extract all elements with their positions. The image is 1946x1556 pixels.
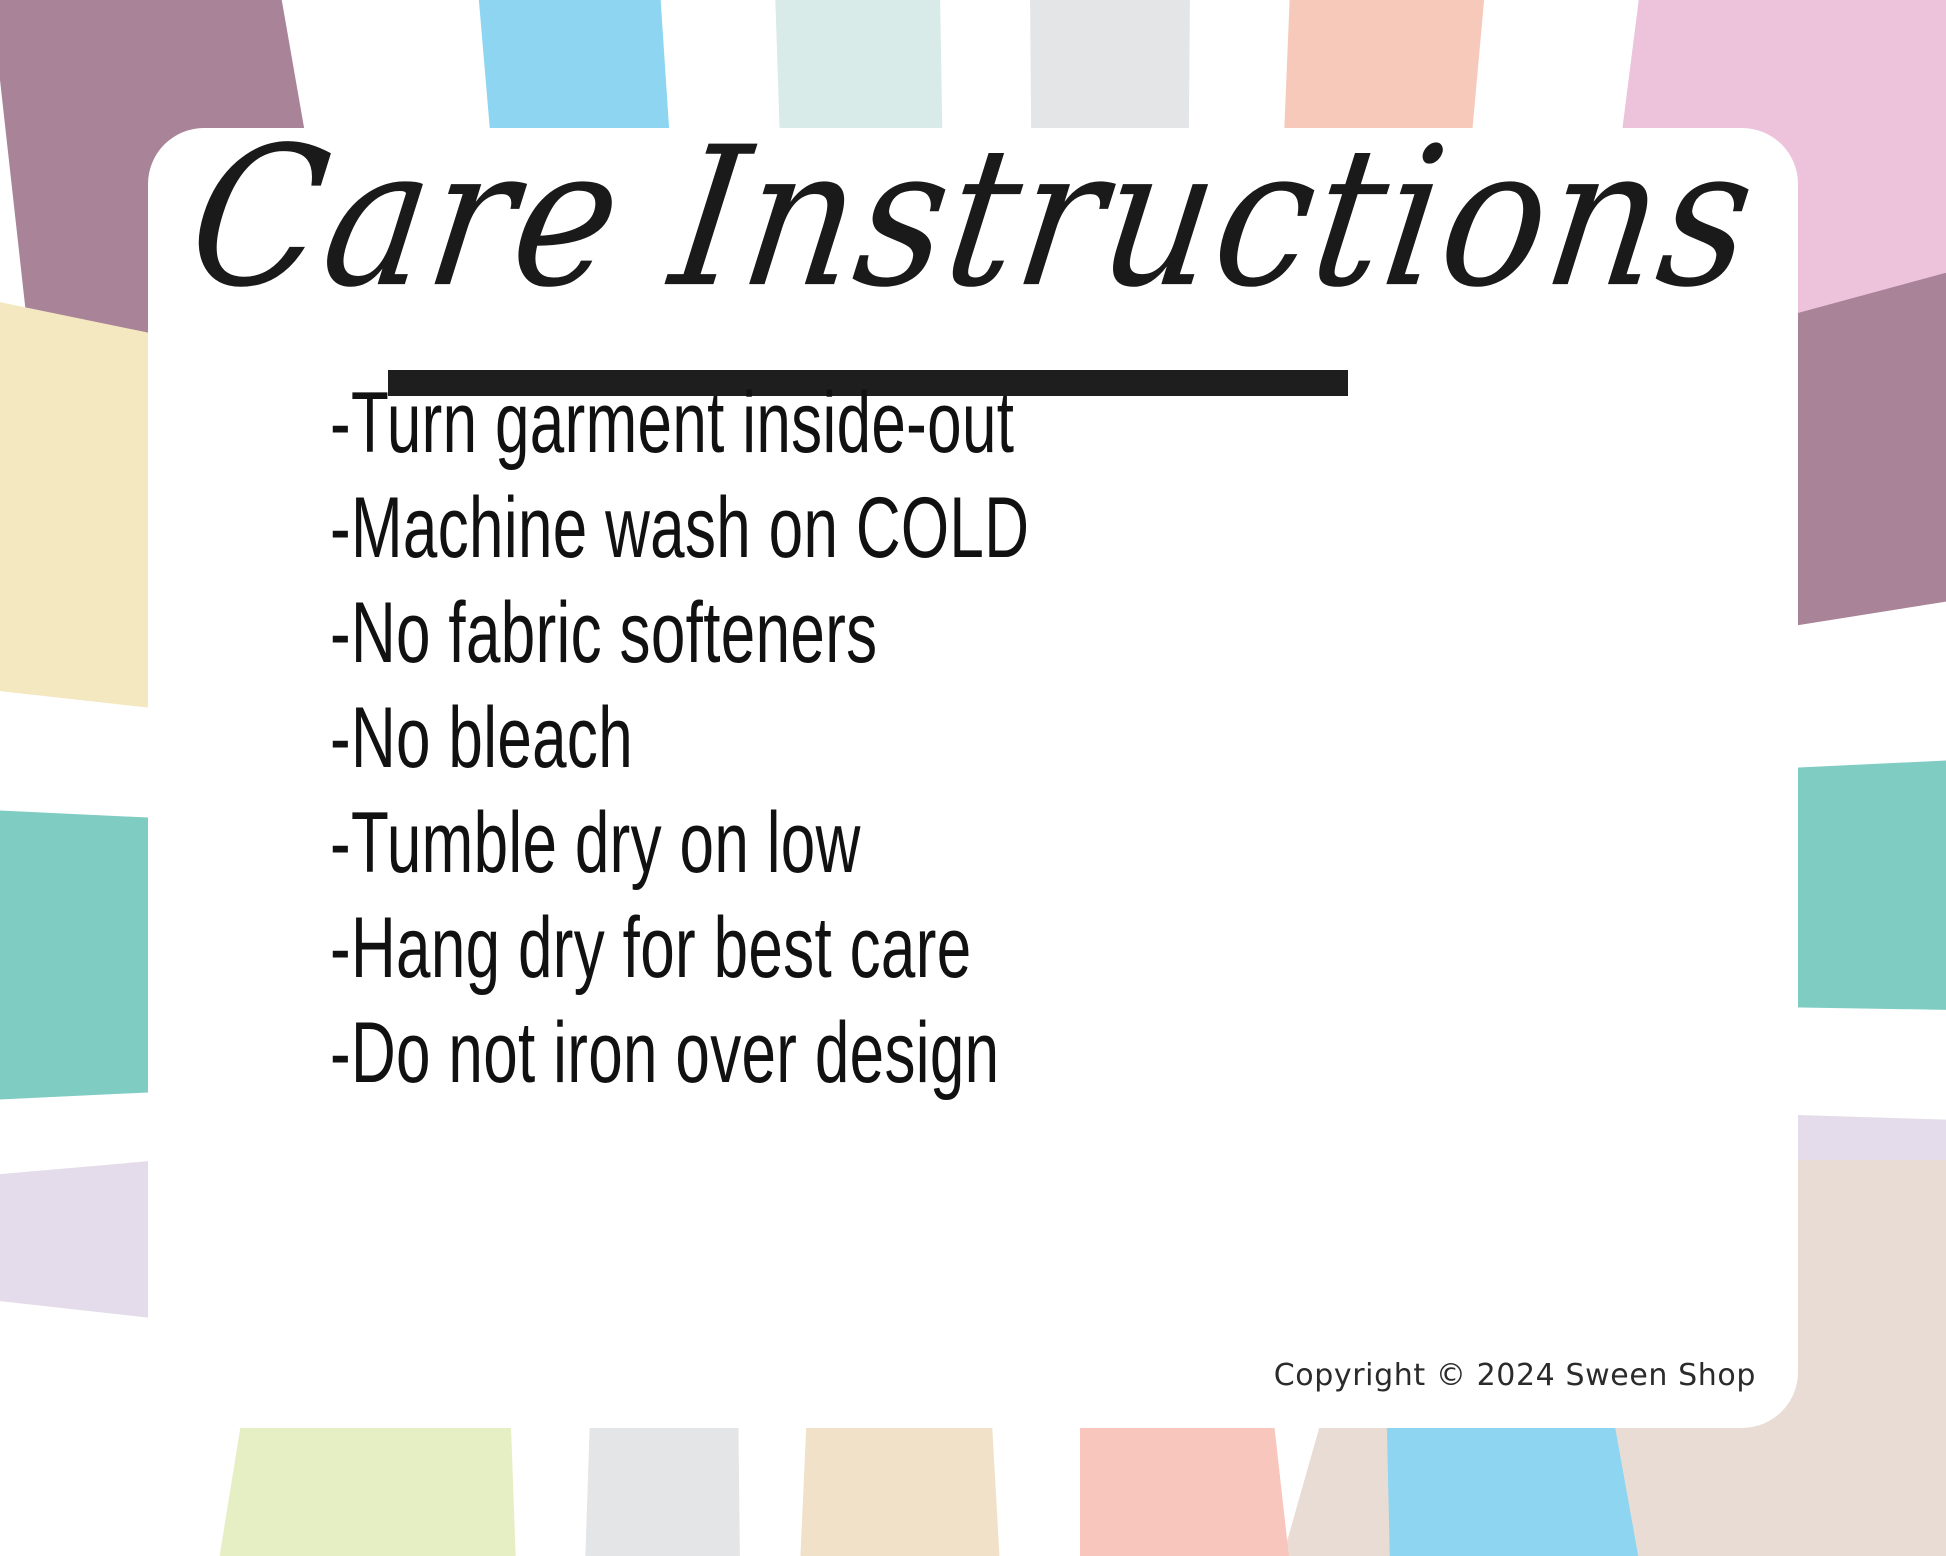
list-item: -No fabric softeners <box>330 582 1338 685</box>
care-instruction-list: -Turn garment inside-out -Machine wash o… <box>330 372 1730 1107</box>
list-item: -Machine wash on COLD <box>330 477 1338 580</box>
list-item: -Turn garment inside-out <box>330 372 1338 475</box>
copyright-notice: Copyright © 2024 Sween Shop <box>1274 1358 1756 1393</box>
list-item: -Do not iron over design <box>330 1002 1338 1105</box>
list-item: -Tumble dry on low <box>330 792 1338 895</box>
care-instructions-card-page: Care Instructions -Turn garment inside-o… <box>0 0 1946 1556</box>
list-item: -No bleach <box>330 687 1338 790</box>
page-title: Care Instructions <box>134 122 1811 315</box>
list-item: -Hang dry for best care <box>330 897 1338 1000</box>
